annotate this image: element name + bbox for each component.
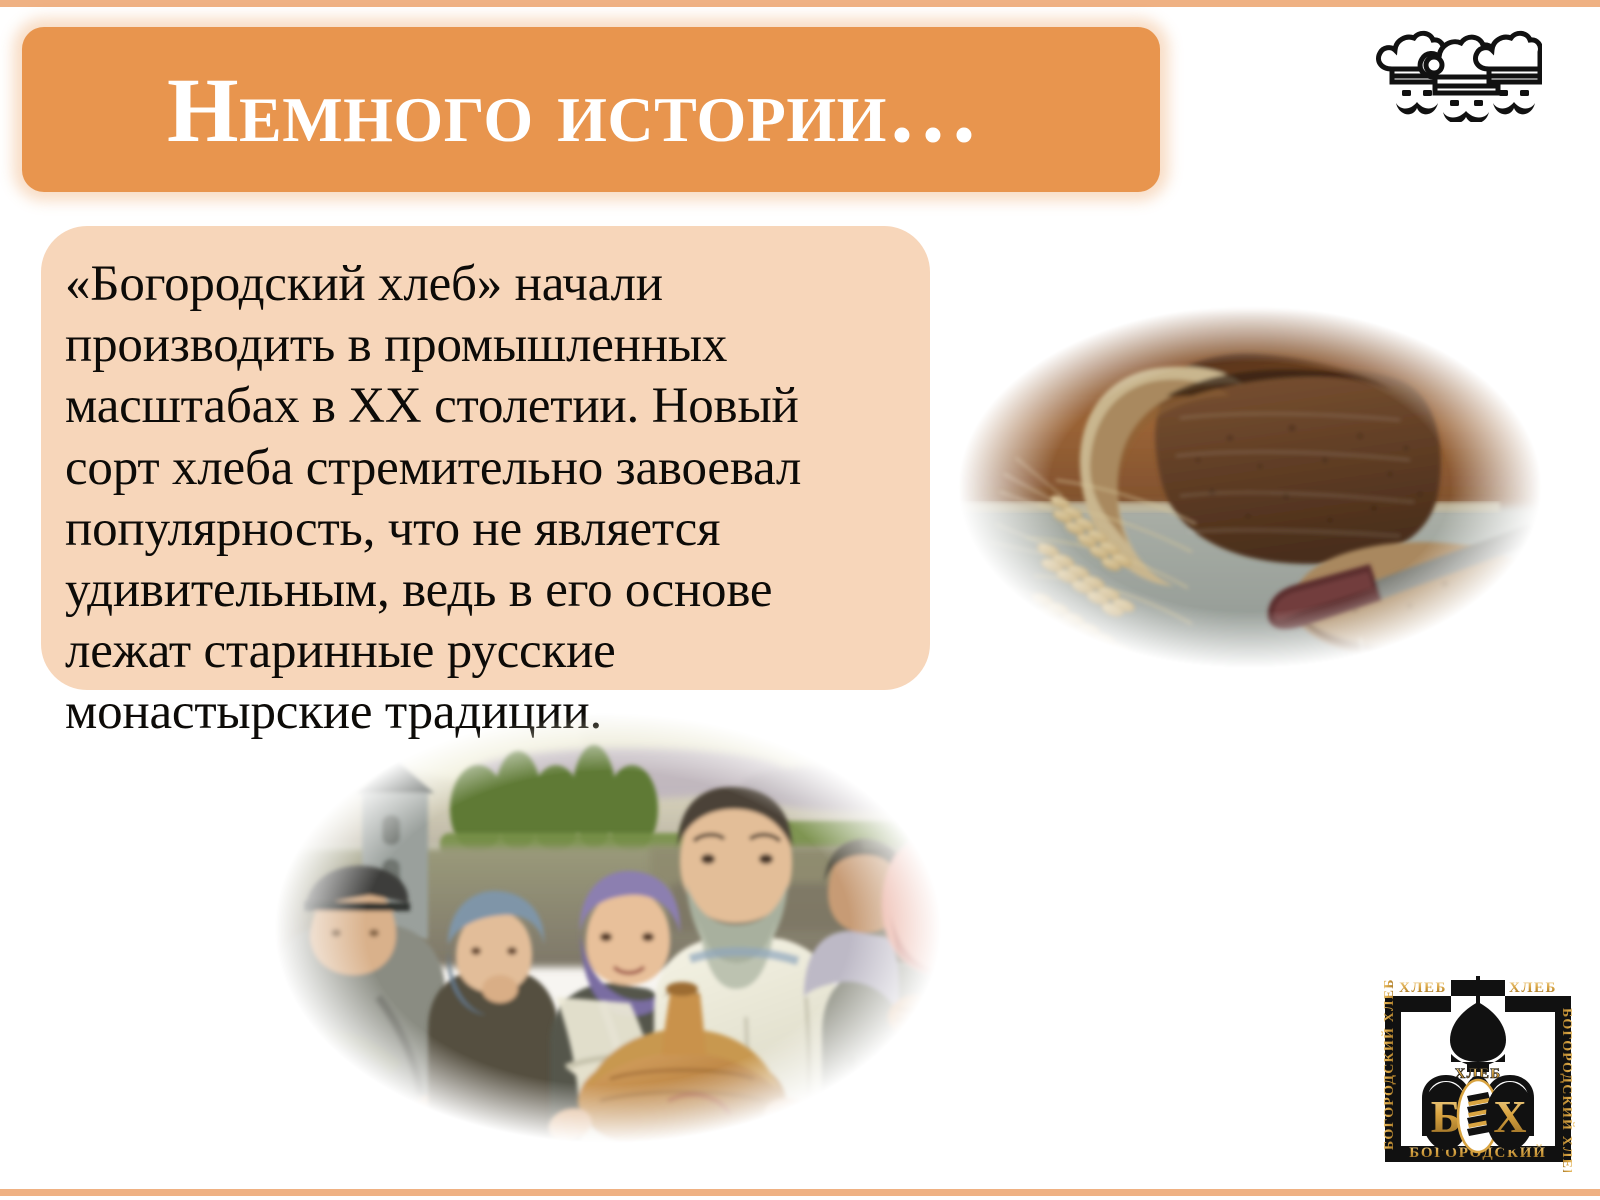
body-text: «Богородский хлеб» начали производить в … <box>65 254 900 744</box>
painting-oval-mask <box>250 697 966 1159</box>
logo-border-right-text: БОГОРОДСКИЙ ХЛЕБ <box>1559 1008 1576 1172</box>
peasants-with-bread-painting <box>250 697 966 1159</box>
logo-monogram-right: Х <box>1493 1091 1526 1142</box>
bogorodsky-hleb-logo: БОГОРОДСКИЙ ХЛЕБ БОГОРОДСКИЙ ХЛЕБ ХЛЕБ Х… <box>1367 950 1589 1172</box>
logo-monogram-left: Б <box>1431 1091 1461 1142</box>
body-text-panel: «Богородский хлеб» начали производить в … <box>41 226 930 690</box>
logo-top-left-word: ХЛЕБ <box>1399 980 1447 996</box>
slide-title: Немного истории… <box>167 64 979 156</box>
bottom-accent-bar <box>0 1189 1600 1196</box>
top-accent-bar <box>0 0 1600 7</box>
rye-bread-photo <box>930 288 1570 686</box>
title-banner: Немного истории… <box>22 27 1160 192</box>
logo-top-right-word: ХЛЕБ <box>1509 980 1557 996</box>
logo-border-left-text: БОГОРОДСКИЙ ХЛЕБ <box>1380 978 1397 1150</box>
chef-hats-icon <box>1372 22 1542 122</box>
bread-photo-oval-mask <box>930 288 1570 686</box>
